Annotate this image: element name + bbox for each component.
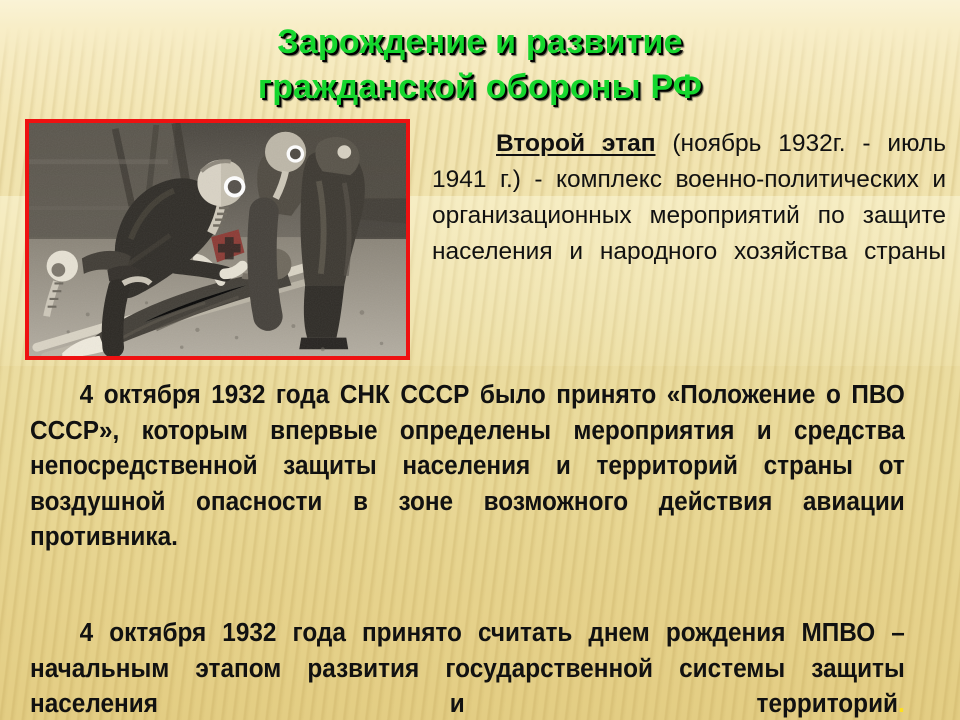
para-den-rozhdeniya-mpvo-text: 4 октября 1932 года принято считать днем… — [30, 619, 905, 718]
para-den-rozhdeniya-mpvo: 4 октября 1932 года принято считать днем… — [30, 616, 905, 720]
right-column-paragraph: Второй этап (ноябрь 1932г. - июль 1941 г… — [432, 126, 946, 306]
photo-illustration — [29, 123, 406, 356]
slide-title: Зарождение и развитие гражданской оборон… — [0, 20, 960, 110]
stage-label: Второй этап — [496, 130, 656, 157]
historical-civil-defense-photo — [25, 119, 410, 360]
trailing-accent-period: . — [898, 690, 905, 718]
body-text-block: 4 октября 1932 года СНК СССР было принят… — [30, 378, 946, 720]
para-polozhenie-pvo: 4 октября 1932 года СНК СССР было принят… — [30, 378, 905, 591]
slide-canvas: Зарождение и развитие гражданской оборон… — [0, 0, 960, 720]
